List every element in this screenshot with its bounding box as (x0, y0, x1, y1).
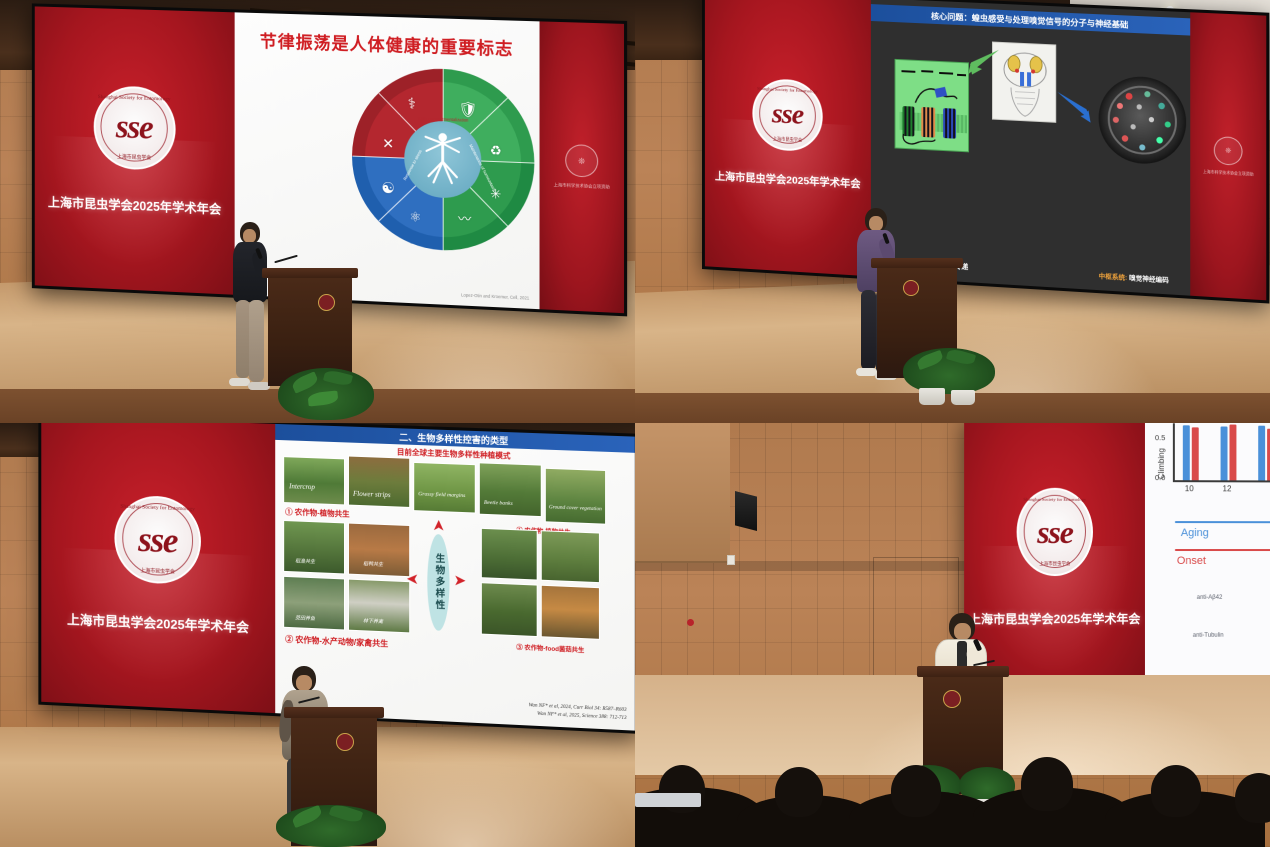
photo-collage: Shanghai Society for Entomology sse 上海市昆… (0, 0, 1270, 847)
audience-head (891, 765, 941, 817)
slide-title: 节律振荡是人体健康的重要标志 (235, 26, 540, 61)
banner-left-red: Shanghai Society for Entomology sse 上海市昆… (41, 423, 275, 713)
slide-circadian: 节律振荡是人体健康的重要标志 ⚕ 🛡 ♻ ✳ 〰 (235, 12, 540, 309)
plant-pot (951, 390, 975, 405)
category-label-3: ② 农作物-水产动物/家禽共生 (285, 634, 388, 650)
led-screen: Shanghai Society for Entomology sse 上海市昆… (38, 423, 635, 734)
legend-label-onset: Onset (1177, 555, 1206, 567)
conference-banner-title: 上海市昆虫学会2025年学术年会 (715, 168, 861, 191)
alarm-light-icon (687, 619, 694, 626)
led-screen: Shanghai Society for Entomology sse 上海市昆… (702, 0, 1269, 304)
institute-seal-icon: ❊ (1214, 135, 1243, 165)
institute-seal-icon: ❊ (565, 144, 598, 178)
panel-bottom-left: Shanghai Society for Entomology sse 上海市昆… (0, 423, 635, 847)
chart-x-axis (1173, 480, 1270, 482)
chart-ytick-0.0: 0.0 (1155, 473, 1165, 482)
locust-head-diagram (992, 42, 1056, 123)
vitruvian-man-icon (422, 128, 463, 186)
sse-logo-arc-bottom: 上海市昆虫学会 (95, 152, 173, 162)
podium-top (262, 268, 358, 278)
plant-pot (919, 388, 945, 405)
chart-y-axis (1173, 423, 1174, 481)
molecule-icon: ⚛ (409, 210, 421, 224)
audience-laptop (635, 793, 701, 807)
blot-label-abeta42: anti-Aβ42 (1197, 595, 1223, 601)
speaker-head (949, 613, 975, 641)
panel-bottom-right: Shanghai Society for Entomology sse 上海市昆… (635, 423, 1270, 847)
banner-left-red: Shanghai Society for Entomology sse 上海市昆… (964, 423, 1145, 698)
conference-banner-title: 上海市昆虫学会2025年学术年会 (48, 191, 221, 217)
photo-beetle-banks (479, 462, 542, 517)
photo-caption-small-2: 稻鸭共生 (363, 560, 383, 568)
sse-logo-arc-bottom: 上海市昆虫学会 (1019, 561, 1091, 567)
caption-central-tag: 中枢系统: (1099, 273, 1128, 282)
potted-plant (264, 805, 394, 847)
audience-head (775, 767, 823, 817)
slide-citations: Wan NF* et al, 2024, Curr Biol 34: R587–… (529, 702, 627, 722)
category-label-1: ① 农作物-植物共生 (285, 506, 349, 520)
chart-bar-onset-12 (1229, 425, 1236, 481)
legend-label-aging: Aging (1181, 527, 1209, 539)
slide-locust-olfaction: 核心问题：蝗虫感受与处理嗅觉信号的分子与神经基础 (871, 0, 1190, 296)
tools-icon: ✕ (382, 136, 394, 150)
photo-forest-poultry (348, 579, 410, 634)
biodiversity-center-label: 生物多样性 (427, 534, 449, 631)
recycle-icon: ♻ (490, 144, 502, 158)
podium-top (871, 258, 963, 268)
photo-caption-flower-strips: Flower strips (353, 490, 391, 499)
syringe-icon: ⚕ (408, 96, 416, 111)
sse-logo-arc-top: Shanghai Society for Entomology (1019, 497, 1091, 502)
chart-xtick-12: 12 (1223, 484, 1232, 493)
podium-emblem (903, 280, 919, 296)
panel-top-left: Shanghai Society for Entomology sse 上海市昆… (0, 0, 635, 423)
shield-icon: 🛡 (459, 102, 478, 118)
panel-top-right: Shanghai Society for Entomology sse 上海市昆… (635, 0, 1270, 423)
caption-central-text: 嗅觉神经编码 (1129, 275, 1169, 284)
photo-caption-beetle-banks: Beetle banks (484, 500, 513, 507)
category-label-4: ③ 农作物-food菌菇共生 (516, 642, 584, 654)
chart-bar-onset-10 (1192, 427, 1199, 480)
wall-outlet-icon (727, 555, 735, 565)
legend-rule-onset (1175, 549, 1270, 551)
blot-label-tubulin: anti-Tubulin (1193, 633, 1224, 639)
figure-credit: Lopez-Otin and Kroemer, Cell, 2021 (461, 292, 529, 300)
banner-right-red: ❊ 上海市科学技术协会立项资助 (1190, 12, 1266, 300)
podium-top (284, 707, 384, 718)
podium-emblem (318, 294, 335, 311)
wave-icon: 〰 (458, 212, 471, 226)
green-arrow-icon (966, 46, 1000, 78)
potted-plant (268, 368, 378, 423)
institute-name: 上海市科学技术协会立项资助 (1203, 169, 1254, 177)
chart-ytick-0.5: 0.5 (1155, 433, 1165, 442)
photo-ground-cover (545, 468, 606, 525)
arrow-up-icon: ➤ (431, 519, 446, 532)
speaker-head (240, 222, 260, 244)
blue-arrow-icon (1056, 91, 1092, 125)
audience-head (1021, 757, 1073, 811)
photo-mushroom-4 (541, 585, 600, 640)
health-wheel-diagram: ⚕ 🛡 ♻ ✳ 〰 ⚛ ☯ ✕ (352, 66, 534, 254)
audience-head (1235, 773, 1270, 823)
sse-logo: Shanghai Society for Entomology sse 上海市昆… (114, 494, 200, 585)
slide-aging-chart: Climbing 0.5 0.0 10 12 Aging Onset anti-… (1145, 423, 1270, 697)
led-screen: Shanghai Society for Entomology sse 上海市昆… (964, 423, 1270, 698)
institute-name: 上海市科学技术协会立项资助 (554, 182, 610, 190)
photo-grassy-margins (413, 462, 476, 514)
photo-caption-small-1: 稻渔共生 (295, 557, 315, 565)
photo-rice-fish (283, 520, 345, 574)
banner-left-red: Shanghai Society for Entomology sse 上海市昆… (705, 0, 871, 276)
photo-caption-intercrop: Intercrop (289, 482, 315, 491)
podium-emblem (336, 733, 354, 751)
arrow-left-icon: ➤ (406, 571, 419, 587)
wall-speaker-icon (735, 491, 757, 531)
chart-bar-aging-10 (1183, 425, 1190, 480)
banner-left-red: Shanghai Society for Entomology sse 上海市昆… (35, 6, 235, 294)
photo-intercrop (283, 456, 345, 505)
conference-banner-title: 上海市昆虫学会2025年学术年会 (969, 609, 1141, 626)
speaker-head (865, 208, 887, 232)
podium-emblem (943, 690, 961, 708)
potted-plant (891, 348, 1001, 406)
sse-logo: Shanghai Society for Entomology sse 上海市昆… (752, 77, 822, 152)
slide-title-band: 核心问题：蝗虫感受与处理嗅觉信号的分子与神经基础 (871, 4, 1190, 35)
photo-mushroom-3 (481, 582, 538, 637)
chart-bar-aging-12 (1221, 426, 1228, 480)
caption-central: 中枢系统: 嗅觉神经编码 (1099, 270, 1169, 284)
photo-paddy-fish (283, 576, 345, 631)
conference-banner-title: 上海市昆虫学会2025年学术年会 (67, 609, 249, 636)
photo-rice-duck (348, 523, 410, 578)
receptor-schematic-figure (895, 59, 969, 152)
speaker-head (292, 666, 316, 692)
podium-top (917, 666, 1009, 677)
photo-flower-strips (348, 456, 410, 508)
legend-rule-aging (1175, 521, 1270, 523)
arrow-right-icon: ➤ (454, 573, 467, 589)
banner-right-red: ❊ 上海市科学技术协会立项资助 (540, 21, 625, 313)
photo-mushroom-2 (541, 530, 600, 583)
sse-logo: Shanghai Society for Entomology sse 上海市昆… (93, 85, 175, 171)
chart-bar-aging-extra (1258, 426, 1265, 481)
glomeruli-imaging-figure (1099, 75, 1187, 166)
wall-corner-upper (635, 423, 730, 563)
biodiversity-label-text: 生物多样性 (433, 553, 443, 611)
photo-mushroom-1 (481, 528, 538, 581)
sse-logo: Shanghai Society for Entomology sse 上海市昆… (1017, 487, 1093, 575)
audience-head (1151, 765, 1201, 817)
photo-caption-small-4: 林下养禽 (363, 617, 383, 625)
speaker-leg (236, 300, 250, 378)
chart-xtick-10: 10 (1185, 484, 1194, 493)
yin-yang-icon: ☯ (381, 180, 395, 196)
photo-caption-small-3: 茭田养鱼 (295, 614, 315, 622)
speaker-shoe (229, 378, 250, 386)
